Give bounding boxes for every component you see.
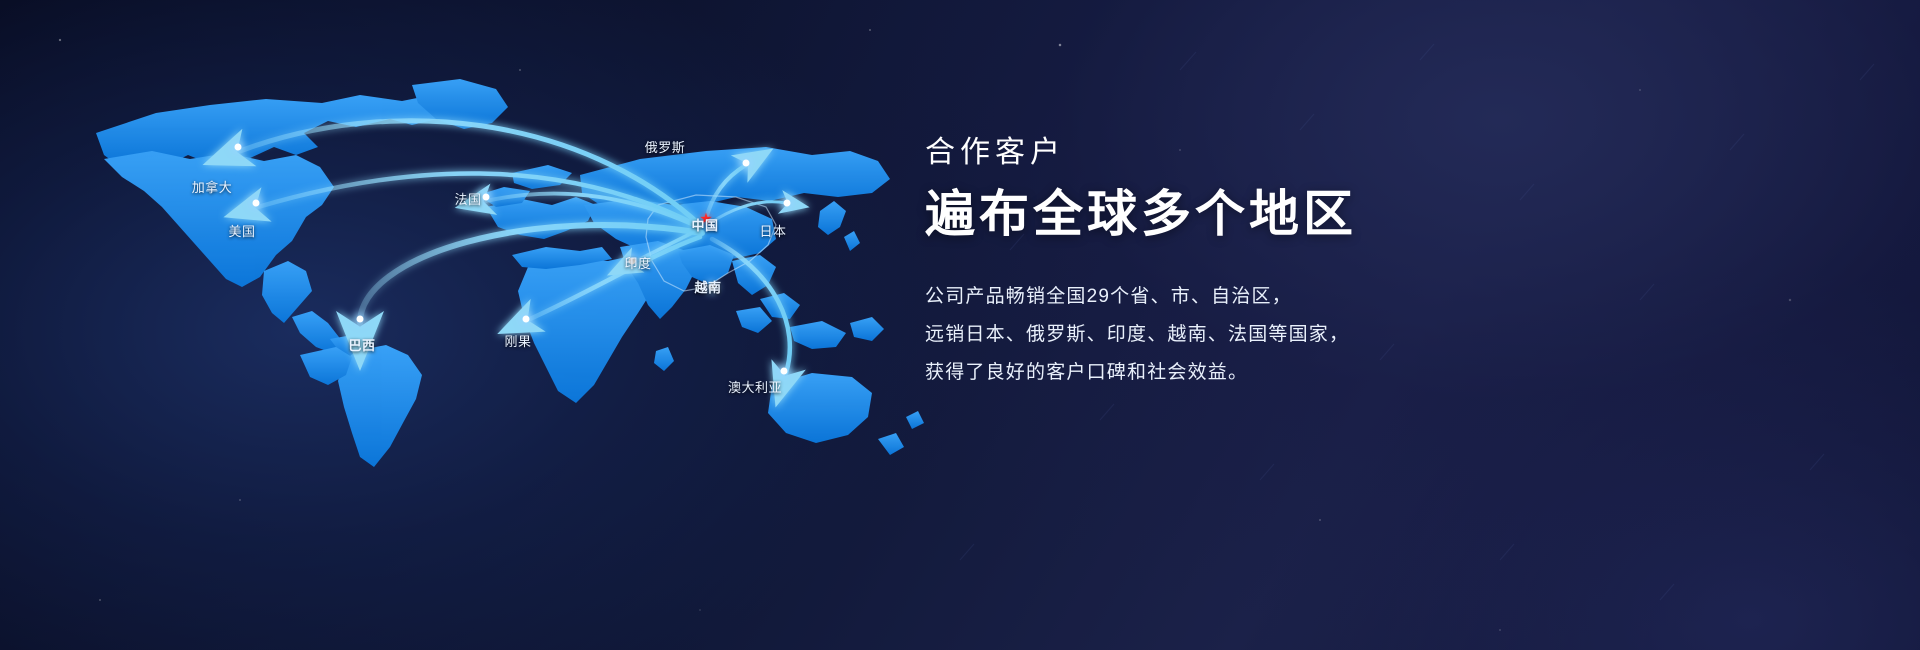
- map-dot-congo: [523, 316, 530, 323]
- map-dot-vietnam: [709, 284, 716, 291]
- world-map-svg: [60, 55, 940, 475]
- map-dot-brazil: [357, 316, 364, 323]
- map-dot-australia: [781, 368, 788, 375]
- map-dot-japan: [784, 200, 791, 207]
- map-dot-canada: [235, 144, 242, 151]
- map-dot-india: [629, 258, 636, 265]
- banner-copy: 合作客户 遍布全球多个地区 公司产品畅销全国29个省、市、自治区， 远销日本、俄…: [925, 134, 1745, 392]
- banner-eyebrow: 合作客户: [925, 134, 1745, 172]
- map-dot-russia: [743, 160, 750, 167]
- global-clients-banner: ★ 加拿大 美国 巴西 法国 刚果 俄罗斯 中国 印度 越南 日本 澳大利亚 合…: [0, 0, 1920, 650]
- banner-paragraph: 公司产品畅销全国29个省、市、自治区， 远销日本、俄罗斯、印度、越南、法国等国家…: [925, 278, 1745, 392]
- banner-headline: 遍布全球多个地区: [925, 184, 1745, 244]
- paragraph-line: 公司产品畅销全国29个省、市、自治区，: [925, 278, 1745, 316]
- landmasses: [96, 79, 924, 467]
- map-dot-usa: [253, 200, 260, 207]
- paragraph-line: 远销日本、俄罗斯、印度、越南、法国等国家，: [925, 316, 1745, 354]
- world-map: ★ 加拿大 美国 巴西 法国 刚果 俄罗斯 中国 印度 越南 日本 澳大利亚: [60, 55, 940, 475]
- map-dot-france: [483, 194, 490, 201]
- origin-star-icon: ★: [699, 212, 712, 227]
- paragraph-line: 获得了良好的客户口碑和社会效益。: [925, 354, 1745, 392]
